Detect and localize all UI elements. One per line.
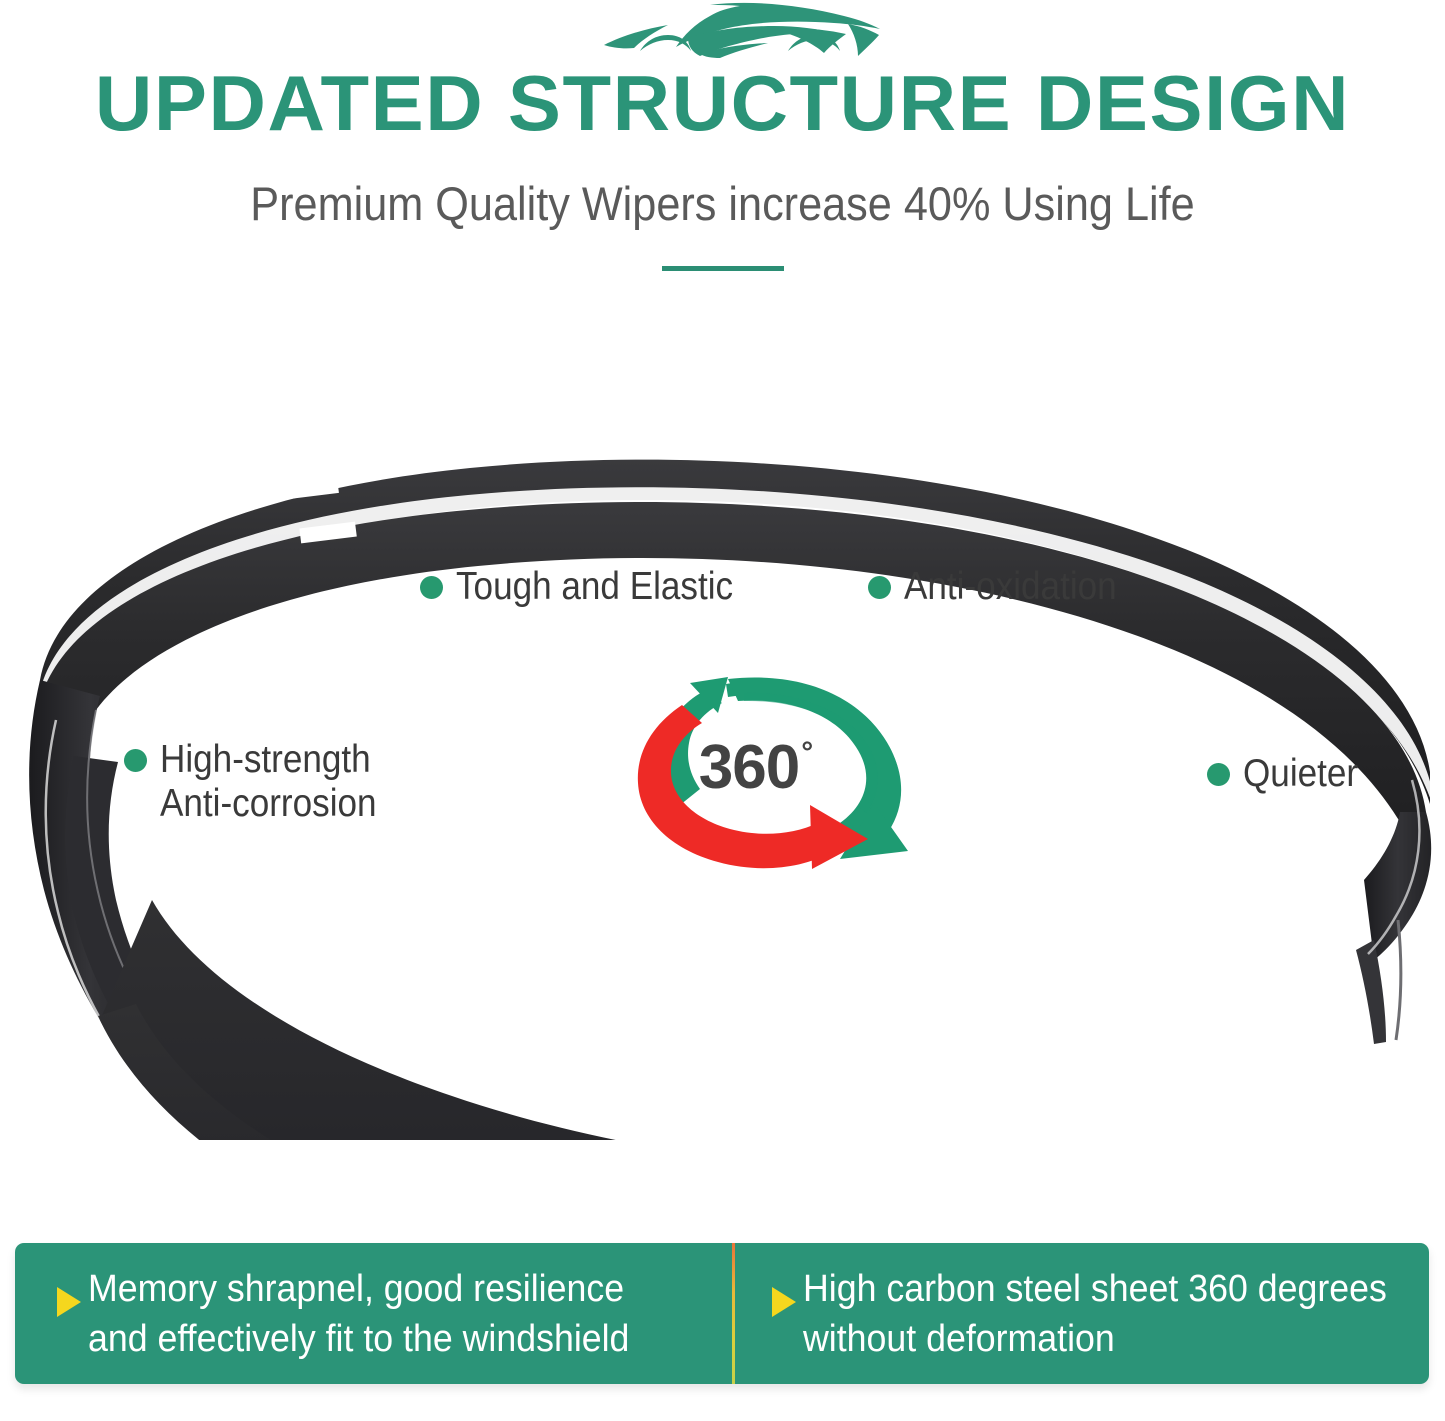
triangle-bullet-icon <box>772 1287 796 1317</box>
feature-high-strength-anti-corrosion: High-strength Anti-corrosion <box>124 738 401 826</box>
bullet-dot-icon <box>420 576 443 599</box>
feature-quieter: Quieter <box>1207 752 1371 796</box>
feature-tough-and-elastic: Tough and Elastic <box>420 565 764 609</box>
page-subtitle: Premium Quality Wipers increase 40% Usin… <box>58 176 1387 232</box>
feature-label: High-strength Anti-corrosion <box>160 738 377 826</box>
360-degree-badge: 360° <box>578 655 923 875</box>
bottom-feature-banner: Memory shrapnel, good resilience and eff… <box>15 1243 1429 1384</box>
banner-column-memory-shrapnel: Memory shrapnel, good resilience and eff… <box>15 1243 717 1384</box>
banner-text: Memory shrapnel, good resilience and eff… <box>88 1264 629 1364</box>
feature-label: Quieter <box>1243 752 1358 796</box>
bullet-dot-icon <box>868 576 891 599</box>
360-label: 360° <box>578 655 923 875</box>
title-divider <box>662 266 784 271</box>
infographic-page: UPDATED STRUCTURE DESIGN Premium Quality… <box>0 0 1445 1421</box>
360-value: 360 <box>699 732 799 803</box>
page-title: UPDATED STRUCTURE DESIGN <box>0 62 1445 144</box>
feature-anti-oxidation: Anti-oxidation <box>868 565 1140 609</box>
triangle-bullet-icon <box>57 1287 81 1317</box>
bullet-dot-icon <box>124 749 147 772</box>
banner-column-high-carbon-steel: High carbon steel sheet 360 degrees with… <box>717 1243 1429 1384</box>
bullet-dot-icon <box>1207 763 1230 786</box>
car-silhouette-logo <box>592 2 882 60</box>
banner-text: High carbon steel sheet 360 degrees with… <box>803 1264 1387 1364</box>
feature-label: Tough and Elastic <box>456 565 733 609</box>
degree-symbol: ° <box>801 738 812 768</box>
feature-label: Anti-oxidation <box>904 565 1117 609</box>
